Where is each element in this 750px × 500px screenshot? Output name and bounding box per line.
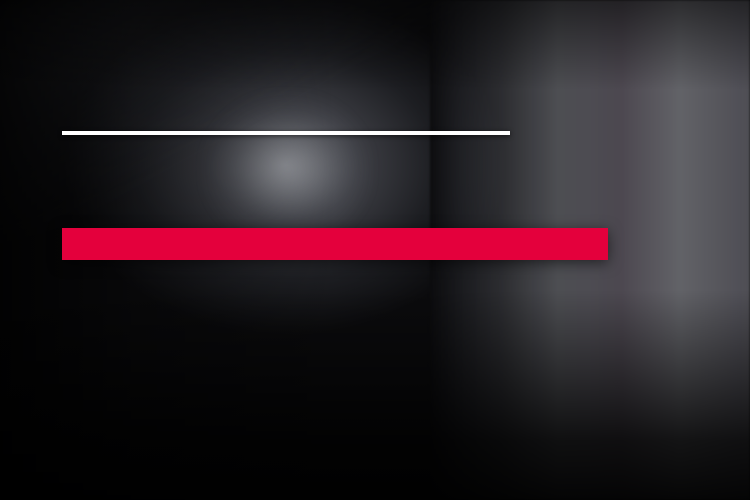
column-header-type: [62, 228, 486, 260]
headline-divider: [62, 131, 510, 135]
table-header-row: [62, 228, 608, 260]
column-header-quantity: [486, 228, 608, 260]
banner-content: [0, 0, 750, 500]
patent-table-head: [62, 228, 608, 260]
patent-table: [62, 228, 608, 260]
patent-banner: [0, 0, 750, 500]
